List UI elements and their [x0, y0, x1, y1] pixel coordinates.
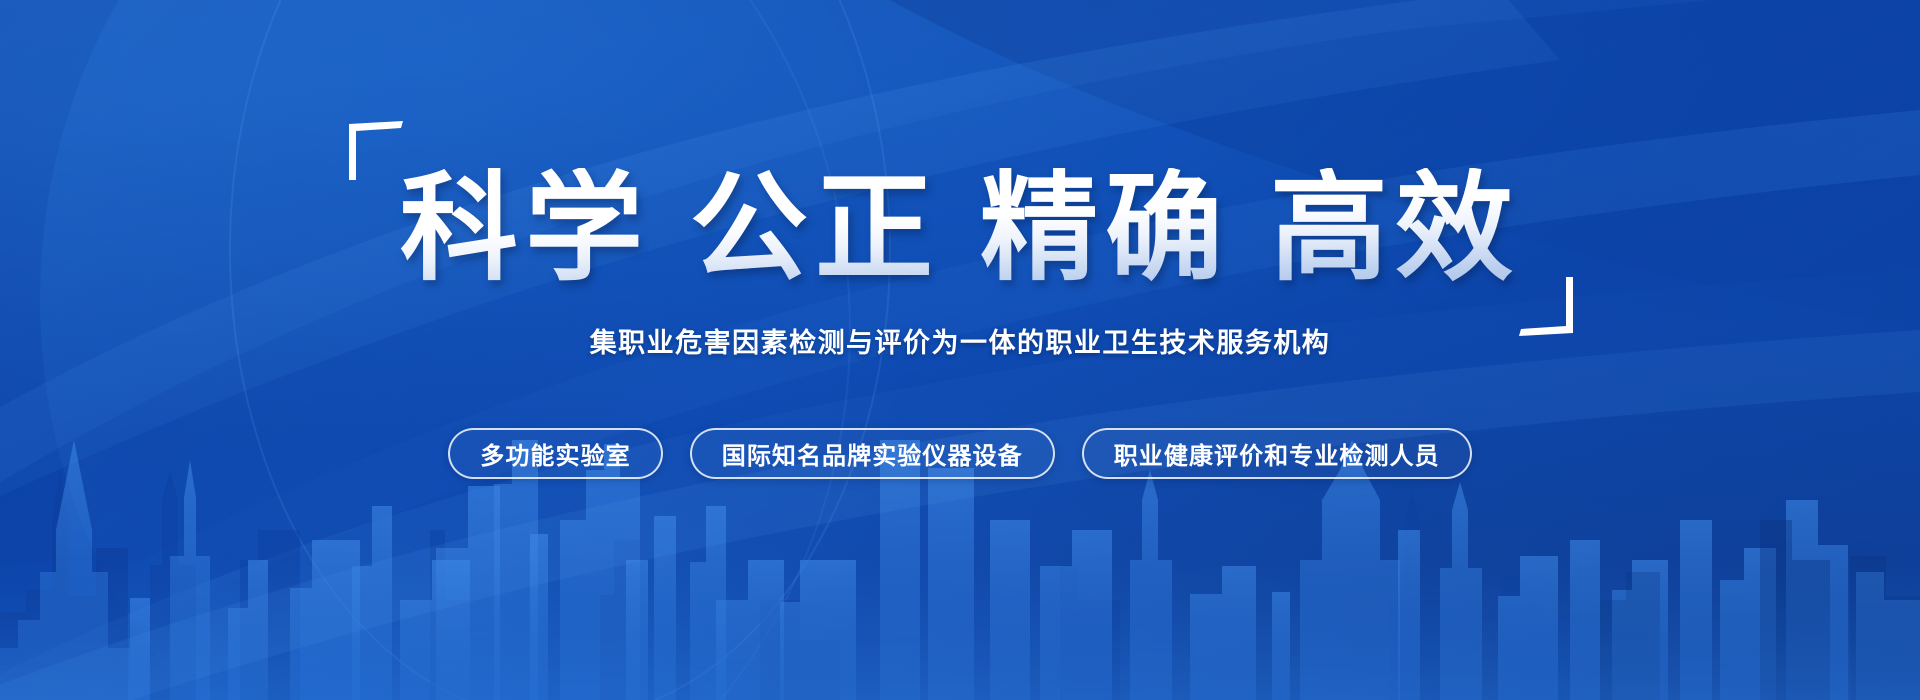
feature-pill-list: 多功能实验室 国际知名品牌实验仪器设备 职业健康评价和专业检测人员 [448, 428, 1472, 479]
open-bracket-icon [346, 120, 406, 182]
banner-content: 科学 公正 精确 高效 集职业危害因素检测与评价为一体的职业卫生技术服务机构 多… [0, 0, 1920, 700]
feature-pill-equipment[interactable]: 国际知名品牌实验仪器设备 [690, 428, 1055, 479]
page-title: 科学 公正 精确 高效 [400, 168, 1520, 291]
promo-banner: 科学 公正 精确 高效 集职业危害因素检测与评价为一体的职业卫生技术服务机构 多… [0, 0, 1920, 700]
feature-pill-staff[interactable]: 职业健康评价和专业检测人员 [1082, 428, 1472, 479]
close-bracket-icon [1516, 275, 1576, 337]
subtitle: 集职业危害因素检测与评价为一体的职业卫生技术服务机构 [590, 321, 1331, 360]
feature-pill-lab[interactable]: 多功能实验室 [448, 428, 662, 479]
headline-block: 科学 公正 精确 高效 [354, 168, 1566, 291]
